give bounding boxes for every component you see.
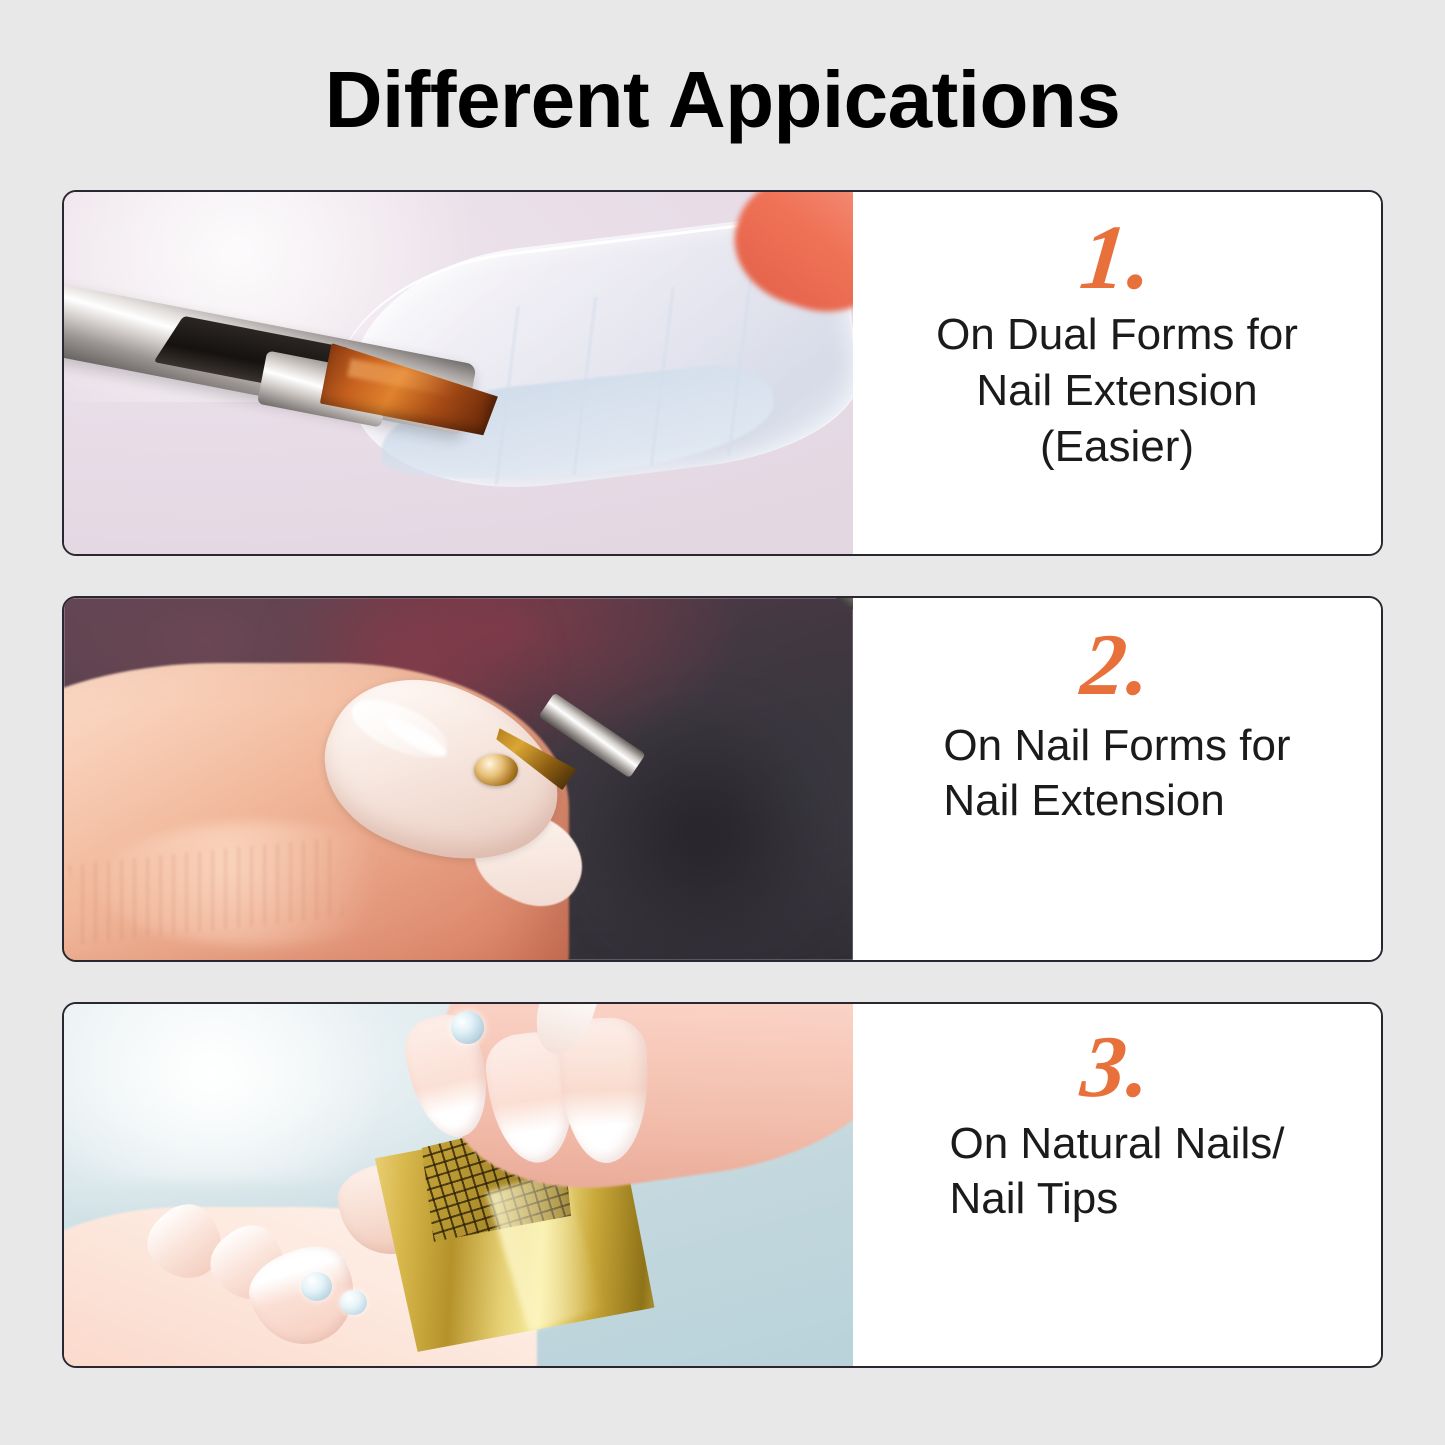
application-text-2: 2. On Nail Forms for Nail Extension [853,598,1381,960]
application-caption-1: On Dual Forms for Nail Extension (Easier… [910,307,1324,475]
step-number-2: 2. [1078,624,1157,708]
application-photo-3 [64,1004,853,1366]
application-caption-3: On Natural Nails/ Nail Tips [923,1116,1310,1228]
gel-bead [474,754,517,787]
application-card-1: 1. On Dual Forms for Nail Extension (Eas… [62,190,1383,556]
step-number-1: 1. [1076,214,1158,301]
application-caption-2: On Nail Forms for Nail Extension [917,718,1316,830]
photo3-highlight [64,1004,451,1181]
application-text-3: 3. On Natural Nails/ Nail Tips [853,1004,1381,1366]
rhinestone-3 [340,1290,367,1315]
page-title: Different Appications [0,58,1445,142]
application-photo-1 [64,192,853,554]
rhinestone-2 [301,1272,333,1301]
application-text-1: 1. On Dual Forms for Nail Extension (Eas… [853,192,1381,554]
application-photo-2 [64,598,853,960]
step-number-3: 3. [1078,1026,1157,1110]
application-card-2: 2. On Nail Forms for Nail Extension [62,596,1383,962]
promo-page: Different Appications 1. On Dual Forms f… [0,0,1445,1445]
application-card-3: 3. On Natural Nails/ Nail Tips [62,1002,1383,1368]
